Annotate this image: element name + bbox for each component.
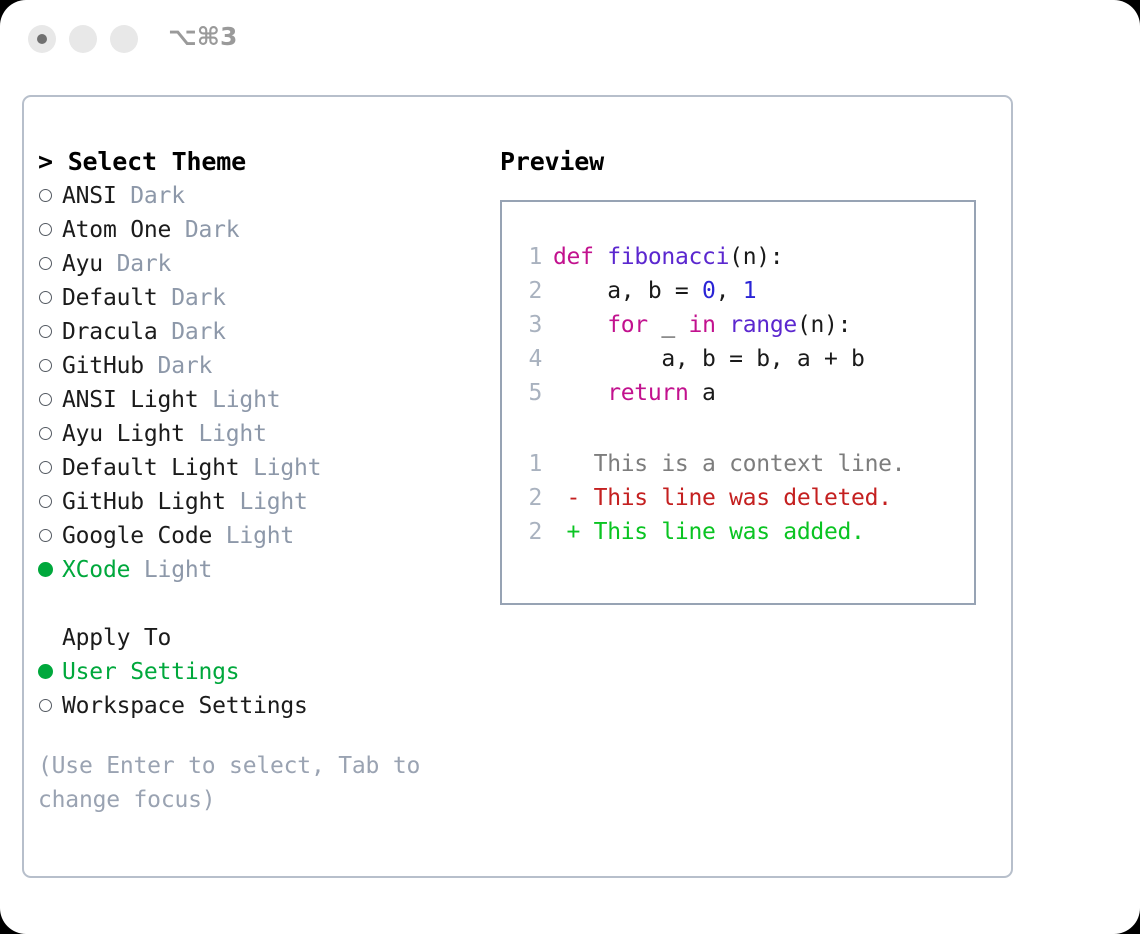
- theme-name-label: Default: [62, 281, 158, 315]
- theme-name-label: Atom One: [62, 213, 171, 247]
- label-spacer: [117, 179, 131, 213]
- apply-to-item[interactable]: User Settings: [38, 655, 478, 689]
- code-line-number: 1: [520, 240, 542, 274]
- code-sample: 1def fibonacci(n):2 a, b = 0, 13 for _ i…: [520, 240, 865, 410]
- theme-name-label: XCode: [62, 553, 130, 587]
- code-line-number: 2: [520, 274, 542, 308]
- radio-hollow-icon: [39, 359, 52, 372]
- code-token: def: [553, 244, 594, 270]
- label-spacer: [158, 315, 172, 349]
- radio-hollow-icon: [39, 189, 52, 202]
- close-button[interactable]: [28, 25, 56, 53]
- radio-hollow-icon: [39, 291, 52, 304]
- code-token: ,: [716, 278, 743, 304]
- label-spacer: [144, 349, 158, 383]
- theme-variant-badge: Light: [144, 553, 212, 587]
- code-line: 1def fibonacci(n):: [520, 240, 865, 274]
- minimize-button[interactable]: [69, 25, 97, 53]
- label-spacer: [226, 485, 240, 519]
- radio-hollow-icon: [39, 325, 52, 338]
- radio-hollow-icon: [39, 427, 52, 440]
- radio-hollow-icon: [39, 257, 52, 270]
- code-line-number: 3: [520, 308, 542, 342]
- code-token: (n):: [797, 312, 851, 338]
- theme-list-item[interactable]: ANSI Dark: [38, 179, 478, 213]
- label-spacer: [198, 383, 212, 417]
- theme-variant-badge: Light: [239, 485, 307, 519]
- theme-name-label: Default Light: [62, 451, 239, 485]
- diff-sample: 1 This is a context line.2 - This line w…: [520, 447, 905, 549]
- code-token: 0: [702, 278, 716, 304]
- diff-line-number: 1: [520, 447, 542, 481]
- theme-variant-badge: Dark: [171, 281, 226, 315]
- theme-list-item[interactable]: Google Code Light: [38, 519, 478, 553]
- keyboard-shortcut-label: ⌥⌘3: [168, 22, 237, 51]
- theme-name-label: Ayu Light: [62, 417, 185, 451]
- apply-to-heading: Apply To: [38, 621, 478, 655]
- preview-pane: Preview 1def fibonacci(n):2 a, b = 0, 13…: [500, 145, 1000, 605]
- label-spacer: [212, 519, 226, 553]
- theme-name-label: ANSI Light: [62, 383, 198, 417]
- title-bar: ⌥⌘3: [0, 0, 1140, 78]
- code-line: 5 return a: [520, 376, 865, 410]
- label-spacer: [130, 553, 144, 587]
- theme-name-label: GitHub: [62, 349, 144, 383]
- radio-hollow-icon: [39, 529, 52, 542]
- radio-hollow-icon: [39, 223, 52, 236]
- theme-list: ANSI DarkAtom One DarkAyu DarkDefault Da…: [38, 179, 478, 587]
- label-spacer: [171, 213, 185, 247]
- traffic-lights: [28, 25, 138, 53]
- diff-line-text: This is a context line.: [553, 451, 905, 477]
- theme-list-item[interactable]: GitHub Light Light: [38, 485, 478, 519]
- preview-heading: Preview: [500, 145, 1000, 179]
- label-spacer: [158, 281, 172, 315]
- main-panel: > Select Theme ANSI DarkAtom One DarkAyu…: [22, 95, 1013, 878]
- code-token: [716, 312, 730, 338]
- label-spacer: [185, 417, 199, 451]
- code-token: for: [607, 312, 648, 338]
- apply-to-list: User SettingsWorkspace Settings: [38, 655, 478, 723]
- radio-hollow-icon: [39, 699, 52, 712]
- preview-box: 1def fibonacci(n):2 a, b = 0, 13 for _ i…: [500, 200, 976, 605]
- help-hint-text: (Use Enter to select, Tab to change focu…: [38, 749, 438, 817]
- zoom-button[interactable]: [110, 25, 138, 53]
- radio-filled-icon: [38, 562, 53, 577]
- theme-name-label: ANSI: [62, 179, 117, 213]
- code-token: fibonacci: [607, 244, 729, 270]
- apply-to-item[interactable]: Workspace Settings: [38, 689, 478, 723]
- code-line: 3 for _ in range(n):: [520, 308, 865, 342]
- theme-name-label: Google Code: [62, 519, 212, 553]
- code-token: a, b = b, a + b: [553, 346, 865, 372]
- theme-variant-badge: Light: [253, 451, 321, 485]
- theme-list-item[interactable]: Default Dark: [38, 281, 478, 315]
- code-token: [553, 312, 607, 338]
- theme-name-label: Dracula: [62, 315, 158, 349]
- app-window: ⌥⌘3 > Select Theme ANSI DarkAtom One Dar…: [0, 0, 1140, 934]
- code-token: a: [689, 380, 716, 406]
- code-line-number: 4: [520, 342, 542, 376]
- theme-list-item[interactable]: Default Light Light: [38, 451, 478, 485]
- diff-line: 2 - This line was deleted.: [520, 481, 905, 515]
- radio-filled-icon: [38, 664, 53, 679]
- theme-variant-badge: Dark: [185, 213, 240, 247]
- code-token: (n):: [729, 244, 783, 270]
- select-theme-heading: > Select Theme: [38, 145, 478, 179]
- theme-list-item[interactable]: ANSI Light Light: [38, 383, 478, 417]
- theme-variant-badge: Light: [226, 519, 294, 553]
- diff-line-number: 2: [520, 515, 542, 549]
- theme-variant-badge: Dark: [158, 349, 213, 383]
- theme-list-item[interactable]: GitHub Dark: [38, 349, 478, 383]
- code-token: range: [729, 312, 797, 338]
- code-token: return: [607, 380, 688, 406]
- diff-line-number: 2: [520, 481, 542, 515]
- theme-selector-pane: > Select Theme ANSI DarkAtom One DarkAyu…: [38, 145, 478, 817]
- label-spacer: [103, 247, 117, 281]
- code-token: [594, 244, 608, 270]
- code-line: 2 a, b = 0, 1: [520, 274, 865, 308]
- label-spacer: [239, 451, 253, 485]
- radio-hollow-icon: [39, 495, 52, 508]
- theme-list-item[interactable]: Dracula Dark: [38, 315, 478, 349]
- radio-hollow-icon: [39, 393, 52, 406]
- code-token: [553, 380, 607, 406]
- radio-hollow-icon: [39, 461, 52, 474]
- diff-line: 2 + This line was added.: [520, 515, 905, 549]
- code-token: a, b =: [553, 278, 702, 304]
- theme-variant-badge: Dark: [130, 179, 185, 213]
- theme-list-item[interactable]: Atom One Dark: [38, 213, 478, 247]
- theme-list-item[interactable]: XCode Light: [38, 553, 478, 587]
- theme-name-label: Ayu: [62, 247, 103, 281]
- apply-to-label: User Settings: [62, 655, 239, 689]
- diff-line-text: - This line was deleted.: [553, 485, 892, 511]
- diff-line: 1 This is a context line.: [520, 447, 905, 481]
- theme-variant-badge: Light: [212, 383, 280, 417]
- code-token: 1: [743, 278, 757, 304]
- theme-variant-badge: Light: [198, 417, 266, 451]
- code-token: in: [689, 312, 716, 338]
- code-token: _: [648, 312, 689, 338]
- theme-variant-badge: Dark: [117, 247, 172, 281]
- code-line: 4 a, b = b, a + b: [520, 342, 865, 376]
- close-icon: [37, 34, 47, 44]
- theme-list-item[interactable]: Ayu Dark: [38, 247, 478, 281]
- apply-to-label: Workspace Settings: [62, 689, 308, 723]
- theme-list-item[interactable]: Ayu Light Light: [38, 417, 478, 451]
- theme-name-label: GitHub Light: [62, 485, 226, 519]
- diff-line-text: + This line was added.: [553, 519, 865, 545]
- theme-variant-badge: Dark: [171, 315, 226, 349]
- code-line-number: 5: [520, 376, 542, 410]
